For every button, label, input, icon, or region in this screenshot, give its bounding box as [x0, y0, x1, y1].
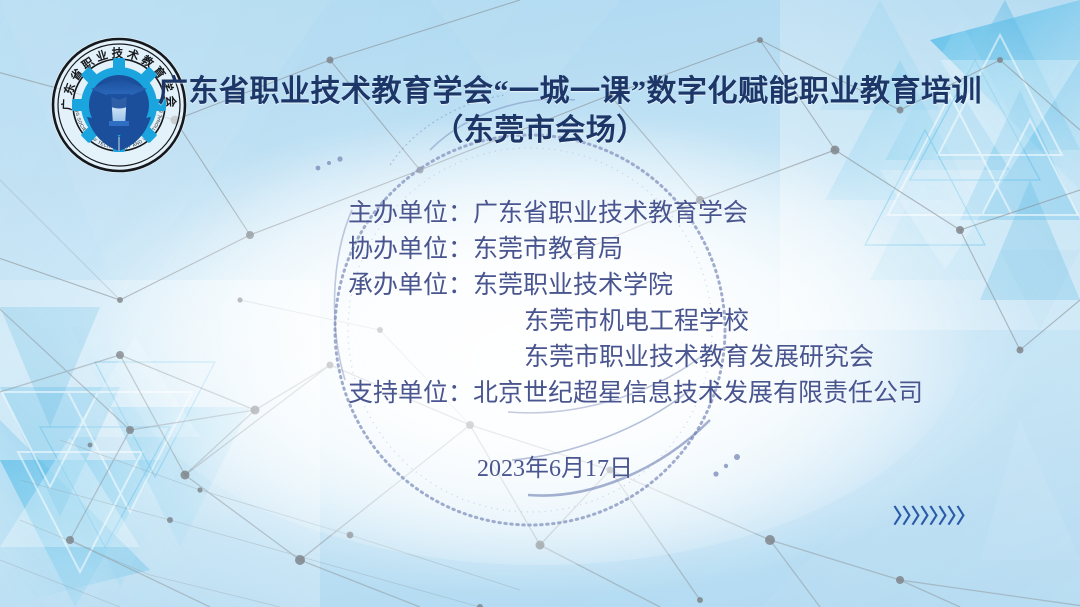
- organizer-line-supporter: 支持单位：北京世纪超星信息技术发展有限责任公司: [0, 376, 1080, 412]
- organizer-line-co-host: 协办单位：东莞市教育局: [0, 232, 1080, 268]
- presentation-slide: 广东省职业技术教育学会 GUANGDONG SOCIETY OF TECHNOL…: [0, 0, 1080, 607]
- event-date: 2023年6月17日: [0, 448, 1080, 483]
- title-line-2: （东莞市会场）: [0, 111, 1080, 150]
- title-line-1: 广东省职业技术教育学会“一城一课”数字化赋能职业教育培训: [0, 72, 1080, 111]
- chevron-decoration: 〉〉〉〉〉〉〉〉: [893, 500, 975, 529]
- organizer-line-undertaker-2: 东莞市机电工程学校: [0, 304, 1080, 340]
- organizer-line-host: 主办单位：广东省职业技术教育学会: [0, 196, 1080, 232]
- page-title: 广东省职业技术教育学会“一城一课”数字化赋能职业教育培训 （东莞市会场）: [0, 72, 1080, 150]
- organizer-line-undertaker-3: 东莞市职业技术教育发展研究会: [0, 340, 1080, 376]
- organizer-line-undertaker: 承办单位：东莞职业技术学院: [0, 268, 1080, 304]
- organizer-list: 主办单位：广东省职业技术教育学会 协办单位：东莞市教育局 承办单位：东莞职业技术…: [0, 196, 1080, 412]
